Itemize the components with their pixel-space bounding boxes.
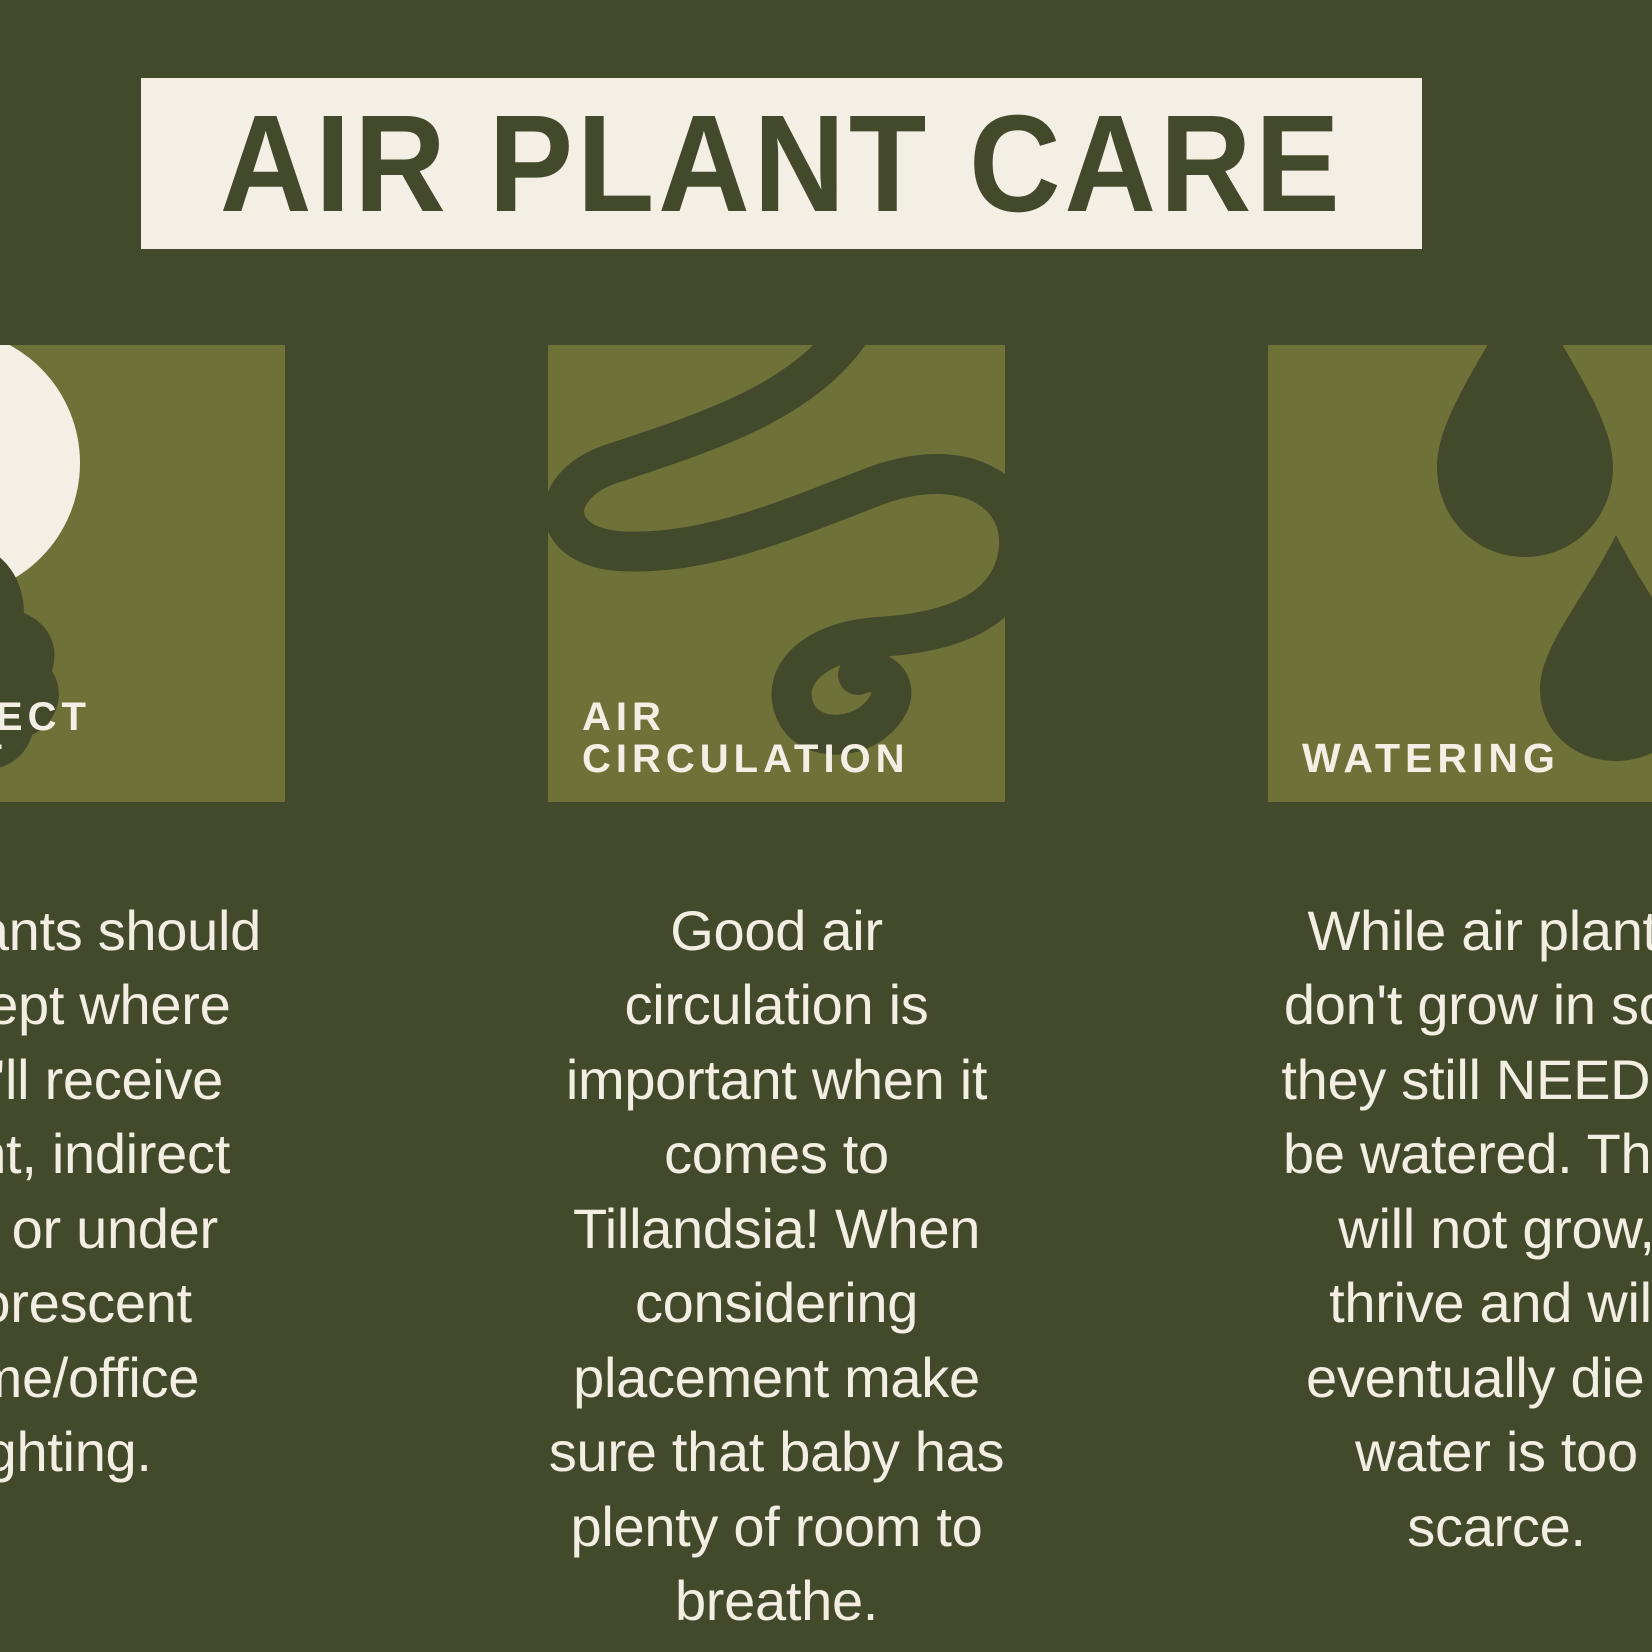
water-droplets-icon — [1268, 345, 1652, 802]
title-banner: AIR PLANT CARE — [141, 78, 1422, 249]
tile-label-watering: WATERING — [1302, 737, 1560, 780]
care-column-air-circulation: AIR CIRCULATION Good air circulation is … — [548, 345, 1005, 1639]
body-text-air-circulation: Good air circulation is important when i… — [548, 894, 1005, 1639]
icon-tile-indirect-light: INDIRECT LIGHT — [0, 345, 285, 802]
care-column-watering: WATERING While air plants don't grow in … — [1268, 345, 1652, 1564]
tile-label-indirect-light: INDIRECT LIGHT — [0, 696, 91, 780]
icon-tile-watering: WATERING — [1268, 345, 1652, 802]
tile-label-air-circulation: AIR CIRCULATION — [582, 696, 910, 780]
care-columns: INDIRECT LIGHT Air plants should be kept… — [0, 345, 1652, 1585]
page-title: AIR PLANT CARE — [220, 95, 1344, 233]
body-text-watering: While air plants don't grow in soil, the… — [1268, 894, 1652, 1564]
body-text-indirect-light: Air plants should be kept where they'll … — [0, 894, 285, 1490]
infographic-canvas: AIR PLANT CARE INDIRECT LIGHT Air plants… — [0, 0, 1652, 1652]
icon-tile-air-circulation: AIR CIRCULATION — [548, 345, 1005, 802]
care-column-indirect-light: INDIRECT LIGHT Air plants should be kept… — [0, 345, 285, 1490]
